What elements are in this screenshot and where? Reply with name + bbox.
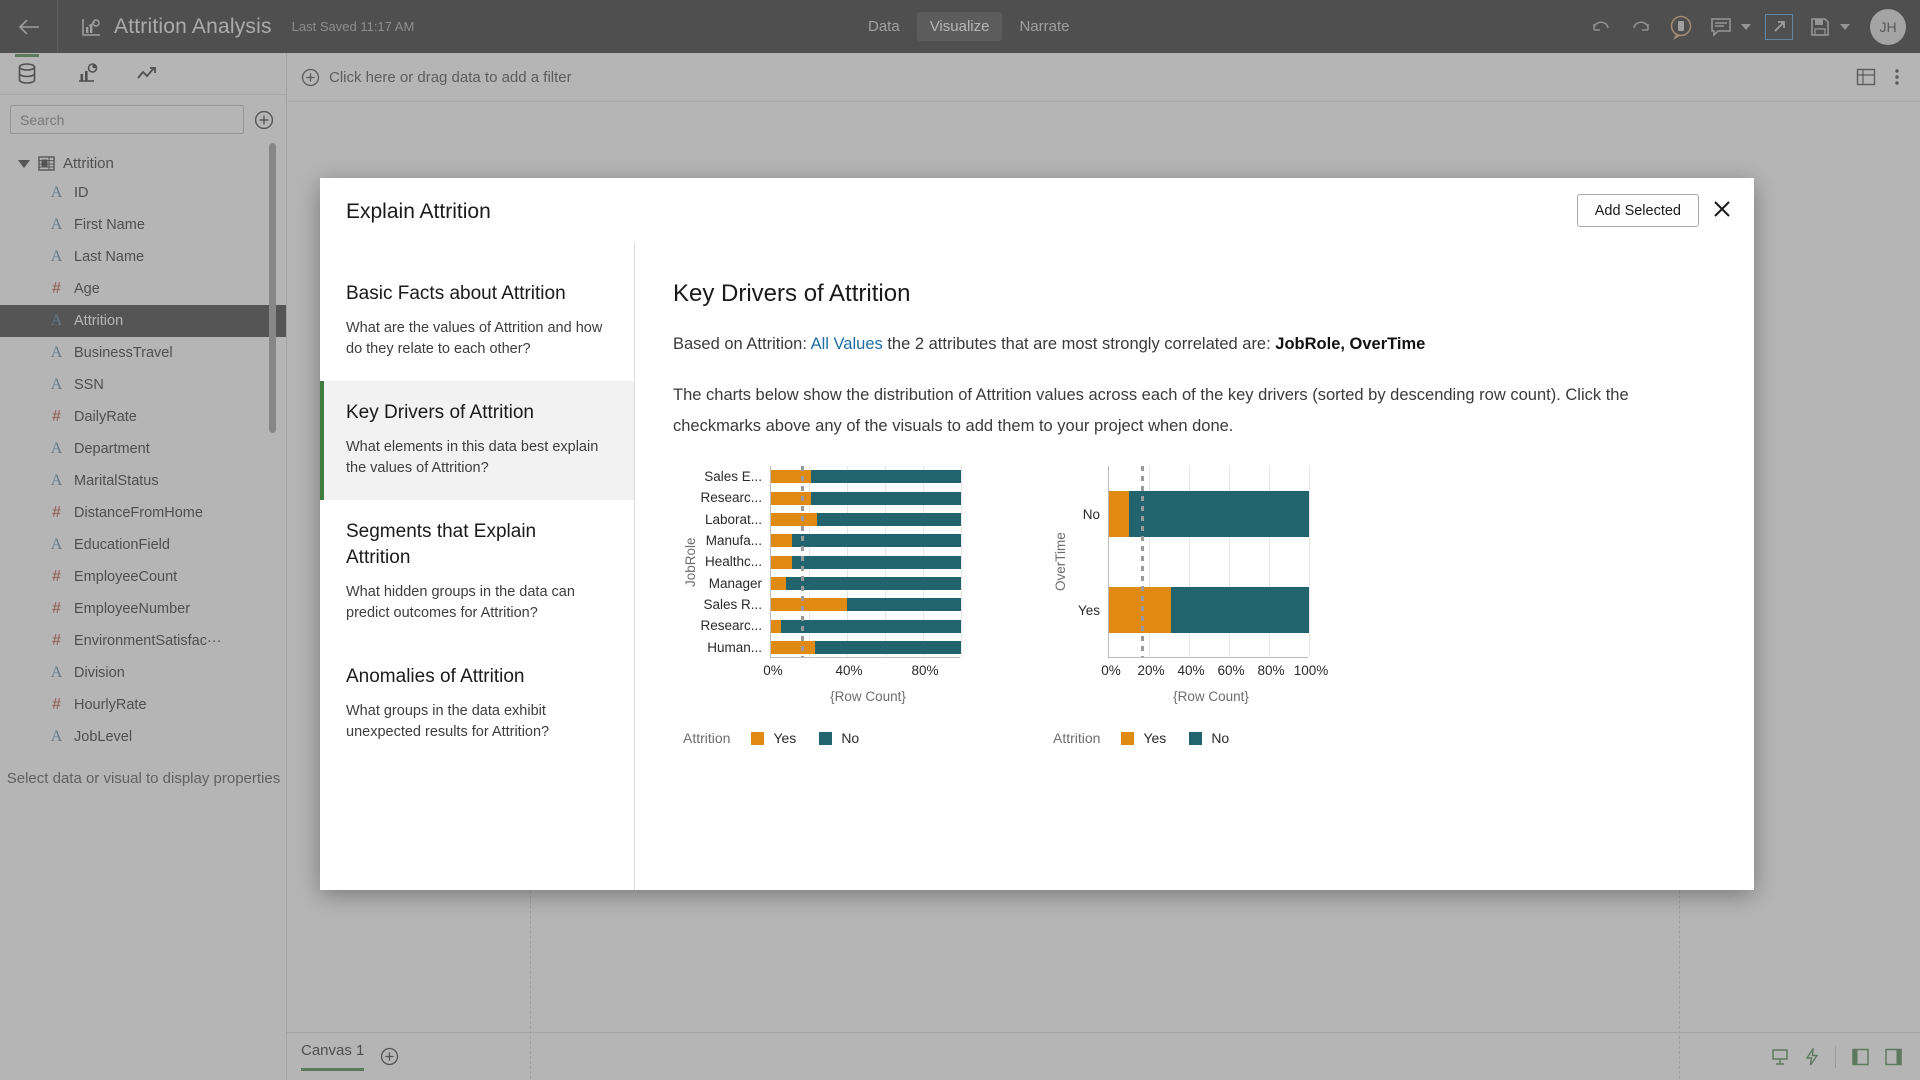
modal-nav-desc: What are the values of Attrition and how… — [346, 318, 604, 360]
bar-segment-no[interactable] — [811, 492, 961, 505]
all-values-link[interactable]: All Values — [811, 335, 883, 353]
bar-segment-yes[interactable] — [1109, 491, 1129, 537]
x-axis-labels: 0%20%40%60%80%100% — [1111, 663, 1311, 685]
modal-header: Explain Attrition Add Selected — [320, 178, 1754, 242]
y-axis-title: JobRole — [683, 466, 698, 658]
explain-modal: Explain Attrition Add Selected Basic Fac… — [320, 178, 1754, 890]
modal-nav-item[interactable]: Key Drivers of AttritionWhat elements in… — [320, 381, 634, 500]
legend-swatch-yes[interactable] — [1121, 732, 1134, 745]
x-tick-label: 80% — [911, 663, 938, 678]
x-tick-label: 80% — [1257, 663, 1284, 678]
stacked-bar[interactable] — [771, 470, 961, 483]
chart-legend: AttritionYesNo — [683, 730, 963, 746]
bar-segment-yes[interactable] — [771, 577, 786, 590]
para1-mid: the 2 attributes that are most strongly … — [883, 335, 1276, 353]
application-root: Attrition Analysis Last Saved 11:17 AM D… — [0, 0, 1920, 1080]
bar-segment-yes[interactable] — [771, 556, 792, 569]
x-tick-label: 40% — [835, 663, 862, 678]
category-label: Manager — [698, 576, 762, 591]
stacked-bar[interactable] — [771, 556, 961, 569]
modal-nav: Basic Facts about AttritionWhat are the … — [320, 242, 635, 890]
legend-swatch-no[interactable] — [1189, 732, 1202, 745]
bar-segment-no[interactable] — [781, 620, 962, 633]
x-axis-title: {Row Count} — [1111, 689, 1311, 704]
key-drivers-names: JobRole, OverTime — [1275, 335, 1425, 353]
modal-nav-item[interactable]: Basic Facts about AttritionWhat are the … — [320, 262, 634, 381]
category-label: Yes — [1068, 603, 1100, 618]
chart-jobrole: JobRoleSales E...Researc...Laborat...Man… — [683, 466, 963, 746]
bar-segment-no[interactable] — [786, 577, 961, 590]
bar-segment-yes[interactable] — [771, 513, 817, 526]
stacked-bar[interactable] — [771, 492, 961, 505]
bar-segment-yes[interactable] — [771, 492, 811, 505]
legend-title: Attrition — [683, 730, 730, 746]
category-label: No — [1068, 507, 1100, 522]
stacked-bar[interactable] — [771, 598, 961, 611]
x-tick-label: 20% — [1137, 663, 1164, 678]
bar-segment-yes[interactable] — [771, 598, 847, 611]
category-label: Researc... — [698, 618, 762, 633]
bar-segment-yes[interactable] — [1109, 587, 1171, 633]
charts-container: JobRoleSales E...Researc...Laborat...Man… — [673, 466, 1714, 746]
category-label: Sales R... — [698, 597, 762, 612]
gridline — [1309, 466, 1310, 657]
content-heading: Key Drivers of Attrition — [673, 280, 1714, 308]
category-labels: NoYes — [1068, 466, 1108, 658]
stacked-bar[interactable] — [1109, 587, 1309, 633]
modal-nav-desc: What hidden groups in the data can predi… — [346, 582, 604, 624]
bar-segment-no[interactable] — [1171, 587, 1309, 633]
chart-legend: AttritionYesNo — [1053, 730, 1311, 746]
para1-pre: Based on Attrition: — [673, 335, 811, 353]
reference-line — [1141, 466, 1144, 657]
bar-segment-yes[interactable] — [771, 620, 781, 633]
category-labels: Sales E...Researc...Laborat...Manufa...H… — [698, 466, 770, 658]
legend-label[interactable]: Yes — [773, 730, 796, 746]
modal-nav-title: Anomalies of Attrition — [346, 664, 604, 690]
category-label: Human... — [698, 640, 762, 655]
plot-area — [770, 466, 960, 658]
x-tick-label: 60% — [1217, 663, 1244, 678]
modal-content: Key Drivers of Attrition Based on Attrit… — [635, 242, 1754, 890]
close-icon[interactable] — [1710, 197, 1734, 221]
reference-line — [801, 466, 804, 657]
bar-segment-yes[interactable] — [771, 641, 815, 654]
modal-nav-title: Segments that Explain Attrition — [346, 519, 604, 571]
legend-label[interactable]: Yes — [1143, 730, 1166, 746]
stacked-bar[interactable] — [771, 577, 961, 590]
x-axis-labels: 0%40%80% — [773, 663, 963, 685]
bar-segment-no[interactable] — [817, 513, 961, 526]
legend-label[interactable]: No — [841, 730, 859, 746]
category-label: Laborat... — [698, 512, 762, 527]
stacked-bar[interactable] — [771, 513, 961, 526]
legend-swatch-yes[interactable] — [751, 732, 764, 745]
legend-title: Attrition — [1053, 730, 1100, 746]
x-axis-title: {Row Count} — [773, 689, 963, 704]
category-label: Healthc... — [698, 554, 762, 569]
legend-swatch-no[interactable] — [819, 732, 832, 745]
modal-nav-item[interactable]: Anomalies of AttritionWhat groups in the… — [320, 645, 634, 764]
add-selected-button[interactable]: Add Selected — [1577, 194, 1699, 227]
modal-title: Explain Attrition — [346, 200, 491, 224]
stacked-bar[interactable] — [771, 534, 961, 547]
category-label: Manufa... — [698, 533, 762, 548]
y-axis-title: OverTime — [1053, 466, 1068, 658]
chart-overtime: OverTimeNoYes0%20%40%60%80%100%{Row Coun… — [1053, 466, 1311, 746]
modal-nav-title: Key Drivers of Attrition — [346, 400, 604, 426]
modal-body: Basic Facts about AttritionWhat are the … — [320, 242, 1754, 890]
stacked-bar[interactable] — [1109, 491, 1309, 537]
bar-segment-no[interactable] — [815, 641, 961, 654]
content-paragraph-2: The charts below show the distribution o… — [673, 380, 1703, 442]
legend-label[interactable]: No — [1211, 730, 1229, 746]
stacked-bar[interactable] — [771, 620, 961, 633]
plot-area — [1108, 466, 1308, 658]
category-label: Researc... — [698, 490, 762, 505]
x-tick-label: 0% — [1101, 663, 1121, 678]
bar-segment-yes[interactable] — [771, 470, 811, 483]
gridline — [961, 466, 962, 657]
x-tick-label: 100% — [1294, 663, 1329, 678]
content-paragraph-1: Based on Attrition: All Values the 2 att… — [673, 329, 1714, 360]
stacked-bar[interactable] — [771, 641, 961, 654]
category-label: Sales E... — [698, 469, 762, 484]
bar-segment-no[interactable] — [792, 534, 961, 547]
bar-segment-no[interactable] — [1129, 491, 1309, 537]
bar-segment-no[interactable] — [847, 598, 961, 611]
bar-segment-no[interactable] — [792, 556, 961, 569]
bar-segment-no[interactable] — [811, 470, 961, 483]
modal-nav-item[interactable]: Segments that Explain AttritionWhat hidd… — [320, 500, 634, 645]
x-tick-label: 0% — [763, 663, 783, 678]
modal-nav-title: Basic Facts about Attrition — [346, 281, 604, 307]
bar-segment-yes[interactable] — [771, 534, 792, 547]
modal-nav-desc: What groups in the data exhibit unexpect… — [346, 701, 604, 743]
modal-nav-desc: What elements in this data best explain … — [346, 437, 604, 479]
x-tick-label: 40% — [1177, 663, 1204, 678]
